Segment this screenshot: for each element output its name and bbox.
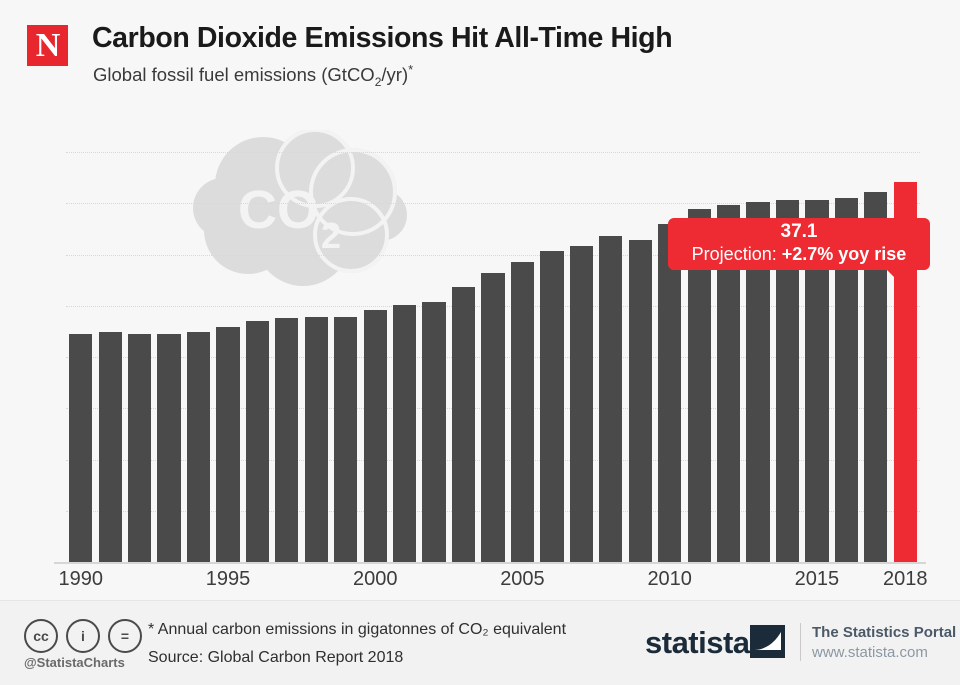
statista-logo-icon xyxy=(750,625,785,658)
subtitle-footnote-marker: * xyxy=(408,62,413,77)
portal-title: The Statistics Portal xyxy=(812,624,956,641)
chart-area: CO 2 0510152025303540 199019952000200520… xyxy=(0,100,960,600)
callout-pointer-icon xyxy=(886,269,908,280)
x-axis-labels: 1990199520002005201020152018 xyxy=(66,568,920,598)
callout-label-prefix: Projection: xyxy=(692,244,782,264)
x-axis-tick-label: 2015 xyxy=(795,568,840,591)
subtitle-text-end: /yr) xyxy=(381,64,408,85)
cc-icon: cc xyxy=(24,619,58,653)
x-axis-tick-label: 1995 xyxy=(206,568,251,591)
newsweek-logo-icon: N xyxy=(27,25,68,66)
header: N Carbon Dioxide Emissions Hit All-Time … xyxy=(0,0,960,100)
x-axis-tick-label: 2010 xyxy=(647,568,692,591)
callout-value: 37.1 xyxy=(668,218,930,243)
statista-wordmark: statista xyxy=(645,625,750,661)
portal-url: www.statista.com xyxy=(812,644,928,661)
creative-commons-icons: cc i = xyxy=(24,619,144,651)
callout-label: Projection: +2.7% yoy rise xyxy=(668,243,930,265)
footer-divider xyxy=(800,623,801,661)
page-subtitle: Global fossil fuel emissions (GtCO2/yr)* xyxy=(93,62,413,89)
cc-by-icon: i xyxy=(66,619,100,653)
x-axis-baseline xyxy=(54,562,926,564)
cc-nd-icon: = xyxy=(108,619,142,653)
x-axis-tick-label: 2018 xyxy=(883,568,928,591)
y-axis-labels: 0510152025303540 xyxy=(0,152,854,562)
x-axis-tick-label: 2005 xyxy=(500,568,545,591)
x-axis-tick-label: 2000 xyxy=(353,568,398,591)
x-axis-tick-label: 1990 xyxy=(58,568,103,591)
source-text: Source: Global Carbon Report 2018 xyxy=(148,649,403,667)
footer: cc i = @StatistaCharts * Annual carbon e… xyxy=(0,600,960,685)
page-title: Carbon Dioxide Emissions Hit All-Time Hi… xyxy=(92,22,672,55)
infographic-page: N Carbon Dioxide Emissions Hit All-Time … xyxy=(0,0,960,684)
statista-handle: @StatistaCharts xyxy=(24,655,125,670)
callout-label-emphasis: +2.7% yoy rise xyxy=(782,244,907,264)
footnote-text: * Annual carbon emissions in gigatonnes … xyxy=(148,621,566,639)
subtitle-text: Global fossil fuel emissions (GtCO xyxy=(93,64,375,85)
projection-callout: 37.1 Projection: +2.7% yoy rise xyxy=(668,218,930,270)
